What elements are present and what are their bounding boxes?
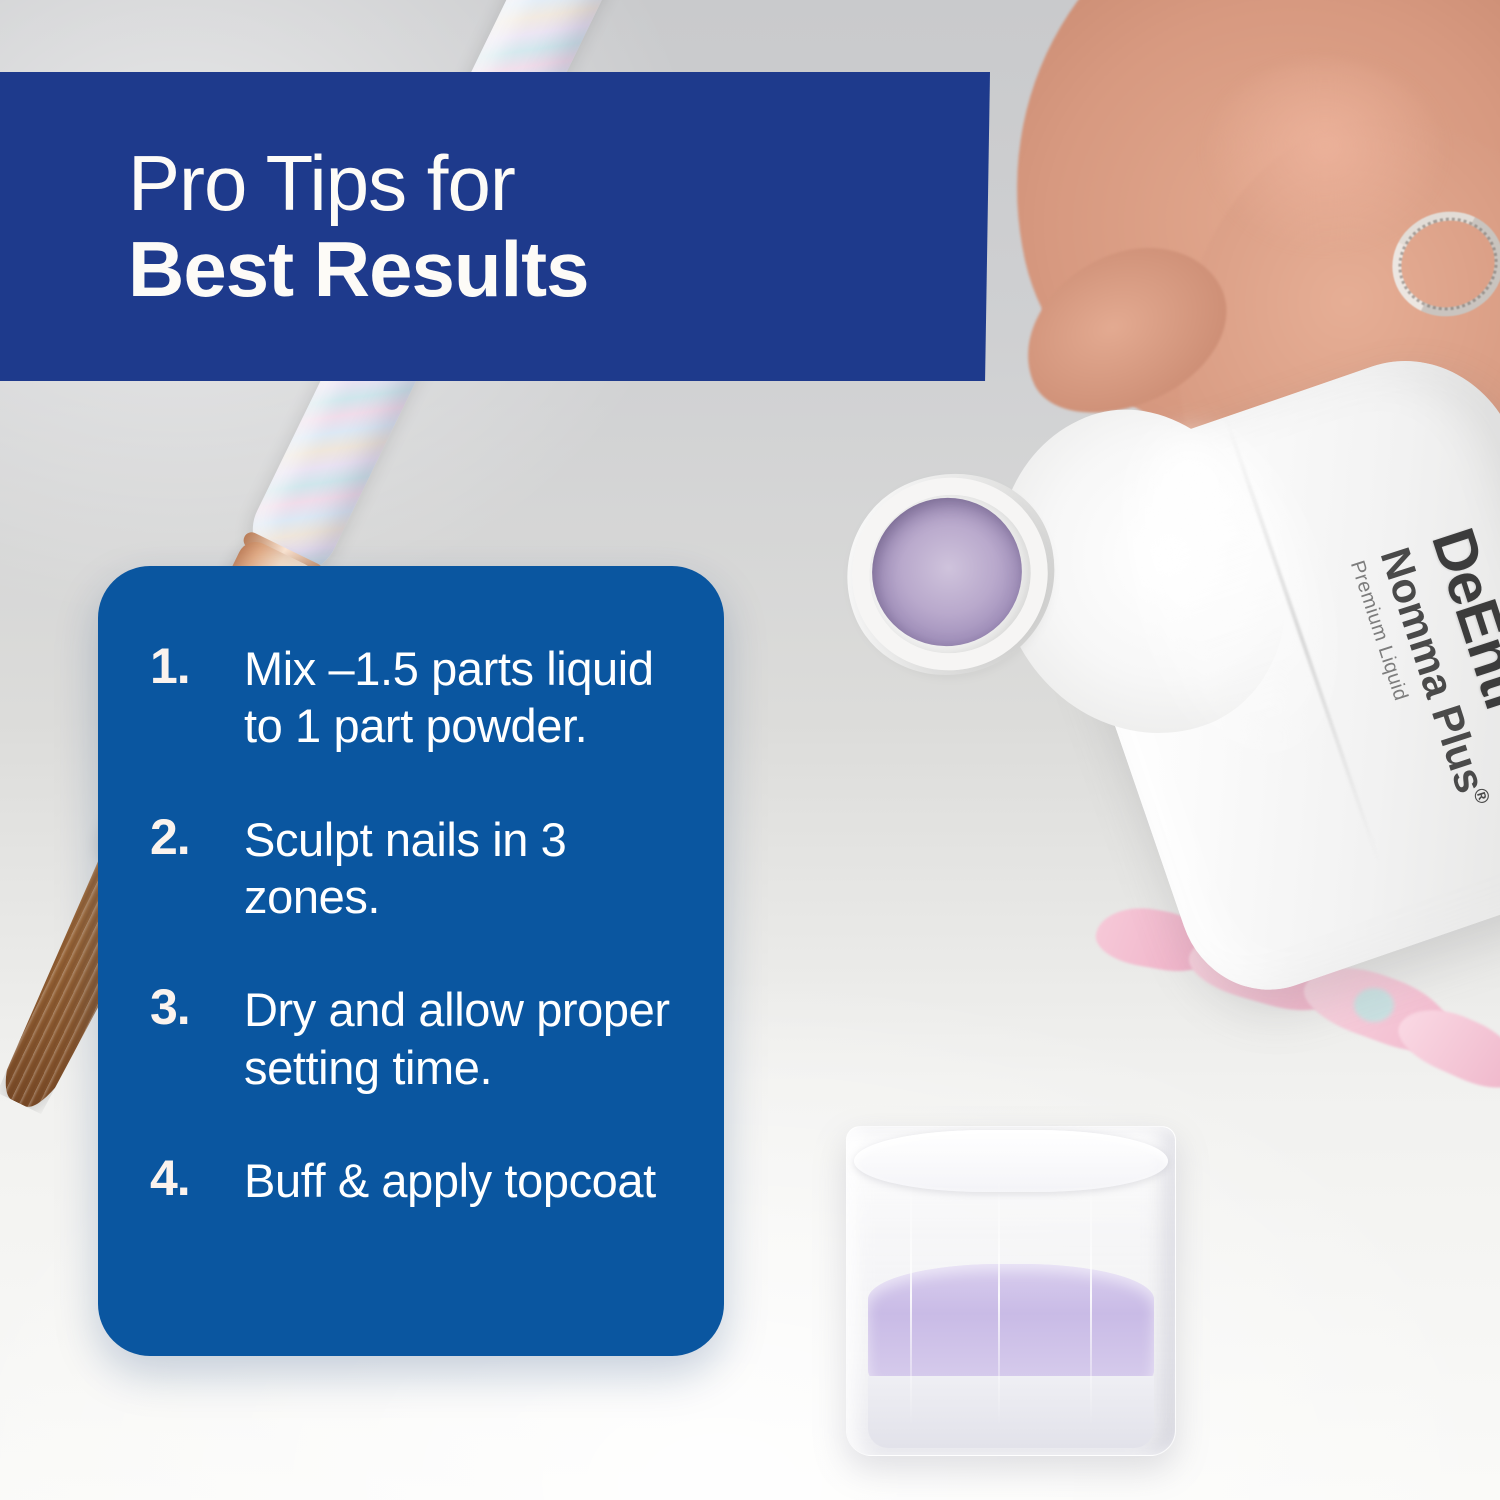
tip-number: 2. — [150, 811, 222, 864]
title-line-1: Pro Tips for — [128, 141, 990, 227]
tips-card: 1. Mix –1.5 parts liquid to 1 part powde… — [98, 566, 724, 1356]
tip-number: 3. — [150, 981, 222, 1034]
tip-number: 4. — [150, 1152, 222, 1205]
tip-number: 1. — [150, 640, 222, 693]
dish-rim — [854, 1130, 1168, 1192]
header-banner: Pro Tips for Best Results — [0, 72, 990, 381]
tip-item: 2. Sculpt nails in 3 zones. — [150, 811, 680, 926]
dish-facet-2 — [998, 1166, 1000, 1426]
tip-item: 3. Dry and allow proper setting time. — [150, 981, 680, 1096]
dish-facet-1 — [910, 1166, 912, 1426]
tip-text: Buff & apply topcoat — [244, 1152, 656, 1209]
tip-item: 1. Mix –1.5 parts liquid to 1 part powde… — [150, 640, 680, 755]
dappen-dish — [846, 1126, 1176, 1456]
tip-text: Sculpt nails in 3 zones. — [244, 811, 680, 926]
tip-text: Mix –1.5 parts liquid to 1 part powder. — [244, 640, 680, 755]
title-line-2: Best Results — [128, 227, 990, 313]
nail-accent — [1354, 988, 1394, 1022]
tip-text: Dry and allow proper setting time. — [244, 981, 680, 1096]
tip-item: 4. Buff & apply topcoat — [150, 1152, 680, 1209]
dish-facet-3 — [1090, 1166, 1092, 1426]
